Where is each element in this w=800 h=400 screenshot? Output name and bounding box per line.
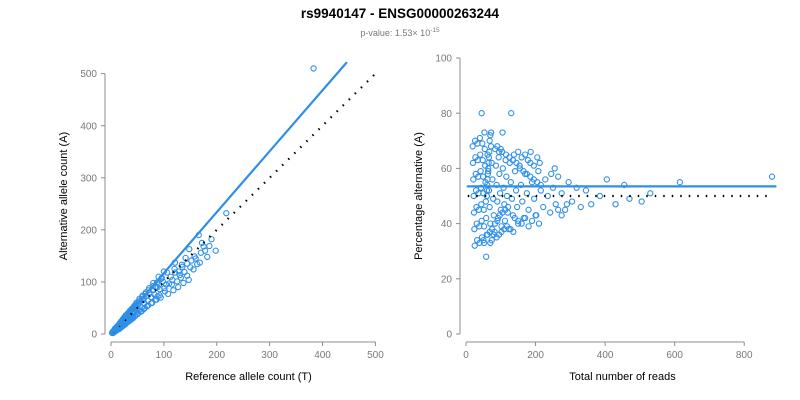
pvalue-subtitle-base: p-value: 1.53× 10 bbox=[360, 28, 430, 38]
x-axis-tick-label: 200 bbox=[208, 350, 225, 361]
y-axis-tick-label: 40 bbox=[441, 219, 453, 230]
y-axis-tick-label: 300 bbox=[80, 173, 97, 184]
y-axis-tick-label: 0 bbox=[91, 330, 97, 341]
x-axis-tick-label: 0 bbox=[463, 350, 469, 361]
figure-background bbox=[0, 0, 800, 400]
pvalue-subtitle: p-value: 1.53× 10-15 bbox=[360, 27, 440, 38]
x-axis-tick-label: 600 bbox=[666, 350, 683, 361]
x-axis-tick-label: 300 bbox=[261, 350, 278, 361]
x-axis-title: Reference allele count (T) bbox=[185, 371, 312, 383]
y-axis-title: Alternative allele count (A) bbox=[58, 132, 70, 260]
y-axis-tick-label: 500 bbox=[80, 69, 97, 80]
x-axis-title: Total number of reads bbox=[569, 371, 676, 383]
y-axis-title: Percentage alternative (A) bbox=[413, 132, 425, 260]
y-axis-tick-label: 200 bbox=[80, 225, 97, 236]
y-axis-tick-label: 60 bbox=[441, 164, 453, 175]
x-axis-tick-label: 0 bbox=[108, 350, 114, 361]
x-axis-tick-label: 200 bbox=[527, 350, 544, 361]
page-title: rs9940147 - ENSG00000263244 bbox=[301, 6, 500, 21]
figure-root: rs9940147 - ENSG00000263244 p-value: 1.5… bbox=[0, 0, 800, 400]
pvalue-subtitle-exponent: -15 bbox=[430, 27, 440, 34]
y-axis-tick-label: 100 bbox=[80, 278, 97, 289]
y-axis-tick-label: 0 bbox=[446, 330, 452, 341]
y-axis-tick-label: 100 bbox=[435, 54, 452, 65]
x-axis-tick-label: 400 bbox=[597, 350, 614, 361]
y-axis-tick-label: 400 bbox=[80, 121, 97, 132]
x-axis-tick-label: 100 bbox=[156, 350, 173, 361]
x-axis-tick-label: 400 bbox=[314, 350, 331, 361]
x-axis-tick-label: 500 bbox=[367, 350, 384, 361]
x-axis-tick-label: 800 bbox=[736, 350, 753, 361]
y-axis-tick-label: 80 bbox=[441, 109, 453, 120]
y-axis-tick-label: 20 bbox=[441, 274, 453, 285]
